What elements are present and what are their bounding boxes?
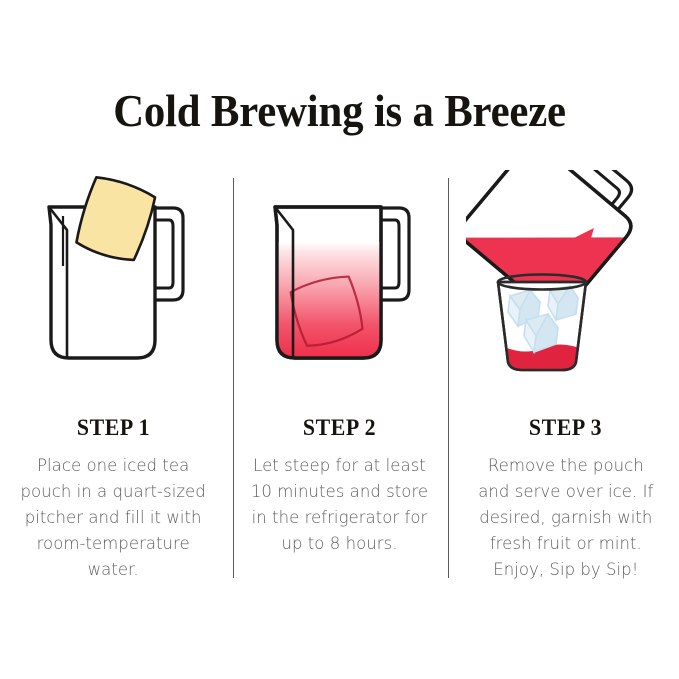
step-1-body: Place one iced tea pouch in a quart-size…	[19, 453, 207, 583]
pitcher-with-tea-pouch-icon	[23, 170, 203, 385]
step-column-2: STEP 2 Let steep for at least 10 minutes…	[226, 160, 452, 600]
step-column-3: STEP 3 Remove the pouch and serve over i…	[453, 160, 679, 600]
infographic-page: Cold Brewing is a Breeze	[0, 0, 679, 679]
steps-container: STEP 1 Place one iced tea pouch in a qua…	[0, 160, 679, 600]
page-title: Cold Brewing is a Breeze	[24, 83, 655, 139]
step-column-1: STEP 1 Place one iced tea pouch in a qua…	[0, 160, 226, 600]
step-2-illustration	[226, 160, 452, 395]
step-3-illustration	[453, 160, 679, 395]
pouring-tea-into-iced-glass-icon	[466, 170, 666, 385]
step-3-heading: STEP 3	[529, 415, 602, 441]
step-2-body: Let steep for at least 10 minutes and st…	[245, 453, 433, 557]
step-1-heading: STEP 1	[77, 415, 150, 441]
step-2-heading: STEP 2	[303, 415, 376, 441]
step-1-illustration	[0, 160, 226, 395]
pitcher-steeping-red-tea-icon	[249, 170, 429, 385]
step-3-body: Remove the pouch and serve over ice. If …	[472, 453, 660, 583]
